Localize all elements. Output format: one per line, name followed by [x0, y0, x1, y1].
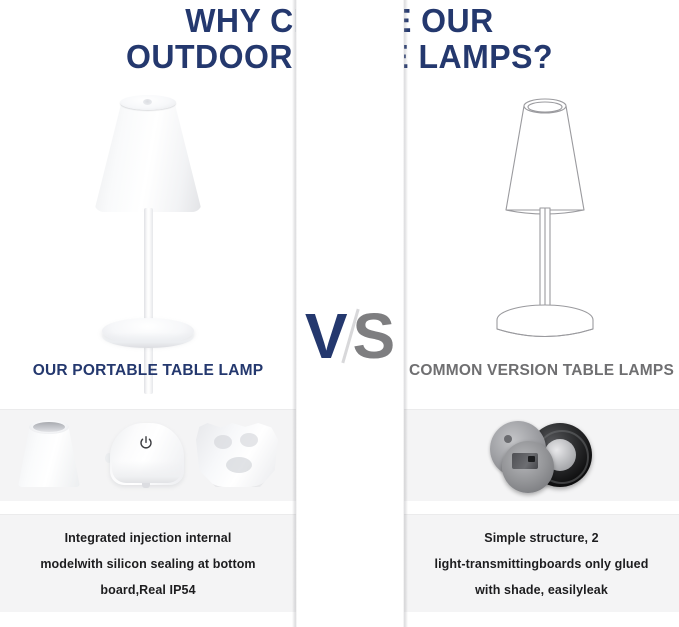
white-portable-table-lamp-photo: [68, 88, 228, 350]
housing-boss-3: [226, 457, 252, 473]
lamp-base-rim: [102, 324, 194, 348]
vs-badge: V S: [296, 300, 404, 372]
ours-description-text: Integrated injection internal modelwith …: [14, 525, 282, 603]
housing-part-body: [196, 423, 278, 487]
panel-top-divider: [0, 514, 296, 515]
ours-parts-row: [0, 409, 296, 501]
panel-top-divider: [404, 514, 679, 515]
circuit-chip: [528, 456, 535, 462]
cap-part-rim: [112, 461, 182, 483]
lamp-shade: [94, 100, 202, 212]
theirs-label-row: COMMON VERSION TABLE LAMPS: [404, 362, 679, 392]
theirs-description-line-3: with shade, easilyleak: [414, 577, 669, 603]
ours-product-label: OUR PORTABLE TABLE LAMP: [33, 362, 264, 379]
vs-letter-v: V: [305, 304, 348, 368]
theirs-description-line-2: light-transmittingboards only glued: [414, 551, 669, 577]
metal-disc-hole-1: [504, 435, 512, 443]
theirs-parts-panel: [404, 409, 679, 501]
vs-letter-s: S: [353, 304, 396, 368]
cap-part-nub: [142, 483, 150, 488]
power-button-icon: [143, 99, 152, 105]
theirs-description-text: Simple structure, 2 light-transmittingbo…: [414, 525, 669, 603]
comparison-infographic: WHY CHOOSE OUR OUTDOOR TABLE LAMPS?: [0, 0, 679, 627]
housing-boss-1: [214, 435, 232, 449]
power-symbol-icon: [138, 435, 154, 451]
ours-parts-panel: [0, 409, 296, 501]
theirs-description-line-1: Simple structure, 2: [414, 525, 669, 551]
theirs-product-label: COMMON VERSION TABLE LAMPS: [409, 362, 674, 379]
housing-boss-2: [240, 433, 258, 447]
common-table-lamp-line-drawing: [462, 88, 622, 350]
ours-description-line-1: Integrated injection internal: [14, 525, 282, 551]
ours-description-line-2: modelwith silicon sealing at bottom: [14, 551, 282, 577]
ours-hero-stage: [0, 80, 296, 360]
ours-label-row: OUR PORTABLE TABLE LAMP: [0, 362, 296, 392]
ours-description-line-3: board,Real IP54: [14, 577, 282, 603]
shade-part-body: [18, 425, 80, 487]
theirs-hero-stage: [404, 80, 679, 360]
shade-part-cavity: [33, 422, 65, 432]
theirs-parts-row: [404, 409, 679, 501]
